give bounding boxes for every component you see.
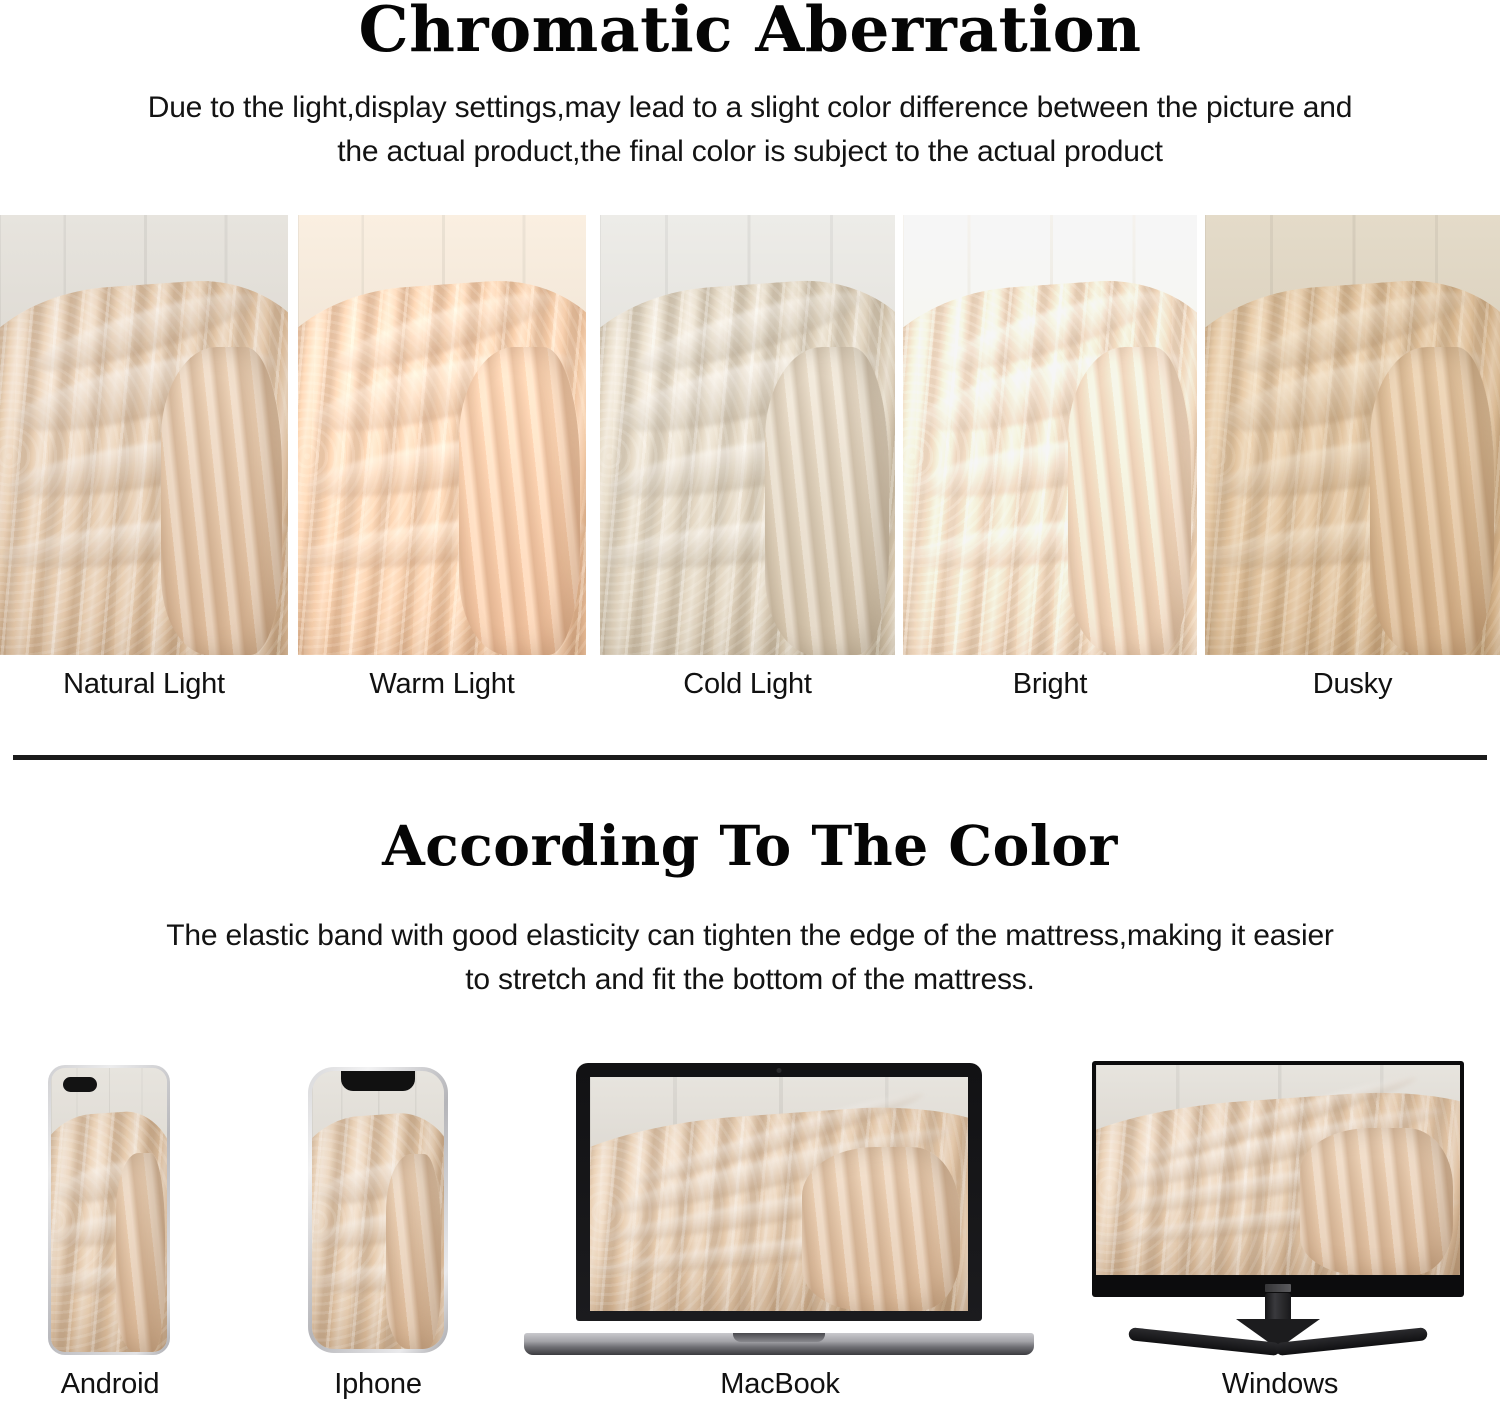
- blanket-scene: [51, 1068, 167, 1352]
- iphone-screen: [312, 1071, 444, 1349]
- macbook-mockup: [524, 1063, 1034, 1355]
- device-label-android: Android: [20, 1368, 200, 1401]
- windows-monitor-mockup: [1092, 1061, 1464, 1357]
- chromatic-aberration-description: Due to the light,display settings,may le…: [0, 86, 1500, 173]
- monitor-bezel: [1092, 1061, 1464, 1297]
- chromatic-aberration-title: Chromatic Aberration: [0, 0, 1500, 61]
- device-label-windows: Windows: [1190, 1368, 1370, 1401]
- blanket-drape-edge: [386, 1154, 441, 1349]
- according-to-the-color-description: The elastic band with good elasticity ca…: [0, 914, 1500, 1001]
- blanket-drape-edge: [116, 1153, 165, 1352]
- blanket-scene: [1205, 215, 1500, 655]
- macbook-lid: [576, 1063, 982, 1321]
- monitor-stand-feet: [1128, 1343, 1428, 1359]
- product-photo-natural-light: [0, 215, 288, 655]
- macbook-base: [524, 1333, 1034, 1355]
- blanket-drape-edge: [459, 347, 580, 655]
- product-photo-cold-light: [600, 215, 895, 655]
- lighting-label-warm-light: Warm Light: [298, 668, 586, 701]
- product-photo-dusky: [1205, 215, 1500, 655]
- blanket-scene: [298, 215, 586, 655]
- according-to-the-color-title: According To The Color: [0, 818, 1500, 873]
- blanket-drape-edge: [765, 347, 889, 655]
- blanket-scene: [1096, 1065, 1460, 1275]
- macbook-screen: [590, 1077, 968, 1311]
- blanket-scene: [590, 1077, 968, 1311]
- device-mockup-row: [0, 1055, 1500, 1355]
- device-labels: Android Iphone MacBook Windows: [0, 1368, 1500, 1414]
- device-label-iphone: Iphone: [288, 1368, 468, 1401]
- lighting-labels: Natural Light Warm Light Cold Light Brig…: [0, 668, 1500, 724]
- lighting-comparison-strip: [0, 215, 1500, 655]
- android-phone-mockup: [48, 1065, 170, 1355]
- color-description-line-1: The elastic band with good elasticity ca…: [0, 914, 1500, 958]
- infographic-page: Chromatic Aberration Due to the light,di…: [0, 0, 1500, 1424]
- lighting-label-natural-light: Natural Light: [0, 668, 288, 701]
- blanket-drape-edge: [161, 347, 282, 655]
- section-divider: [13, 755, 1487, 760]
- chromatic-description-line-2: the actual product,the final color is su…: [0, 130, 1500, 174]
- blanket-scene: [0, 215, 288, 655]
- blanket-scene: [903, 215, 1197, 655]
- blanket-drape-edge: [1300, 1128, 1453, 1275]
- blanket-drape-edge: [1370, 347, 1494, 655]
- android-screen: [51, 1068, 167, 1352]
- webcam-icon: [777, 1068, 782, 1073]
- chromatic-description-line-1: Due to the light,display settings,may le…: [0, 86, 1500, 130]
- monitor-screen: [1096, 1065, 1460, 1275]
- product-photo-bright: [903, 215, 1197, 655]
- lighting-label-cold-light: Cold Light: [600, 668, 895, 701]
- blanket-drape-edge: [1068, 347, 1191, 655]
- color-description-line-2: to stretch and fit the bottom of the mat…: [0, 958, 1500, 1002]
- product-photo-warm-light: [298, 215, 586, 655]
- lighting-label-dusky: Dusky: [1205, 668, 1500, 701]
- monitor-brand-logo: [1265, 1284, 1291, 1292]
- lighting-label-bright: Bright: [903, 668, 1197, 701]
- notch-icon: [341, 1071, 415, 1091]
- blanket-scene: [312, 1071, 444, 1349]
- blanket-scene: [600, 215, 895, 655]
- macbook-lid-notch: [733, 1333, 825, 1342]
- iphone-mockup: [308, 1067, 448, 1353]
- blanket-drape-edge: [802, 1147, 961, 1311]
- camera-punch-hole-icon: [63, 1077, 97, 1092]
- device-label-macbook: MacBook: [690, 1368, 870, 1401]
